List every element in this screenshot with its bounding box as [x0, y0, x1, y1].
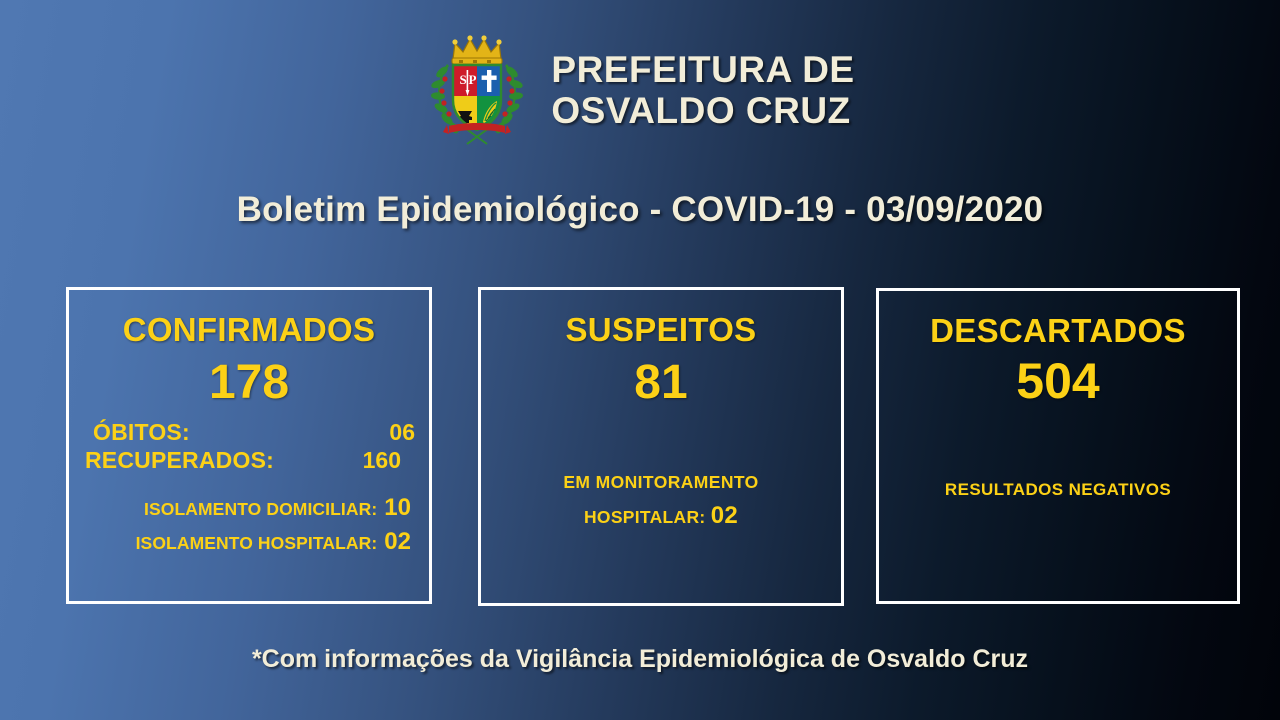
card-confirmados: CONFIRMADOS 178 ÓBITOS: 06 RECUPERADOS: … [66, 287, 432, 604]
card-confirmados-count: 178 [69, 355, 429, 410]
card-descartados: DESCARTADOS 504 RESULTADOS NEGATIVOS [876, 288, 1240, 604]
card-suspeitos-count: 81 [481, 355, 841, 410]
stat-value-obitos: 06 [389, 418, 415, 446]
iso-row-hospitalar: ISOLAMENTO HOSPITALAR: 02 [79, 525, 411, 559]
monitoring-hospitalar-value: 02 [711, 502, 738, 529]
iso-value-hospitalar: 02 [384, 525, 411, 559]
card-descartados-count: 504 [879, 352, 1237, 410]
descartados-sub-label: RESULTADOS NEGATIVOS [879, 480, 1237, 500]
iso-label-hospitalar: ISOLAMENTO HOSPITALAR: [136, 531, 378, 556]
slide-canvas: S P [0, 0, 1280, 720]
card-suspeitos: SUSPEITOS 81 EM MONITORAMENTO HOSPITALAR… [478, 287, 844, 606]
stat-value-recuperados: 160 [363, 446, 415, 474]
card-suspeitos-heading: SUSPEITOS [481, 311, 841, 349]
suspeitos-monitoring-block: EM MONITORAMENTO HOSPITALAR: 02 [481, 472, 841, 530]
stat-label-recuperados: RECUPERADOS: [85, 446, 274, 474]
stat-row-obitos: ÓBITOS: 06 [85, 418, 415, 446]
iso-row-domiciliar: ISOLAMENTO DOMICILIAR: 10 [79, 491, 411, 525]
confirmados-isolation-rows: ISOLAMENTO DOMICILIAR: 10 ISOLAMENTO HOS… [69, 491, 429, 559]
org-title: PREFEITURA DE OSVALDO CRUZ [551, 49, 854, 132]
svg-text:P: P [469, 72, 477, 87]
svg-text:S: S [460, 72, 467, 87]
page-title: Boletim Epidemiológico - COVID-19 - 03/0… [0, 190, 1280, 230]
stat-row-recuperados: RECUPERADOS: 160 [85, 446, 415, 474]
header: S P [0, 34, 1280, 146]
sao-paulo-coat-of-arms-icon: S P [425, 34, 529, 146]
card-confirmados-heading: CONFIRMADOS [69, 311, 429, 349]
card-descartados-heading: DESCARTADOS [879, 312, 1237, 350]
monitoring-label: EM MONITORAMENTO [481, 472, 841, 493]
stat-label-obitos: ÓBITOS: [85, 418, 190, 446]
footer-note: *Com informações da Vigilância Epidemiol… [0, 645, 1280, 674]
iso-label-domiciliar: ISOLAMENTO DOMICILIAR: [144, 497, 377, 522]
confirmados-stat-rows: ÓBITOS: 06 RECUPERADOS: 160 [69, 418, 429, 474]
monitoring-hospitalar-row: HOSPITALAR: 02 [481, 502, 841, 530]
monitoring-hospitalar-label: HOSPITALAR: [584, 507, 706, 527]
iso-value-domiciliar: 10 [384, 491, 411, 525]
